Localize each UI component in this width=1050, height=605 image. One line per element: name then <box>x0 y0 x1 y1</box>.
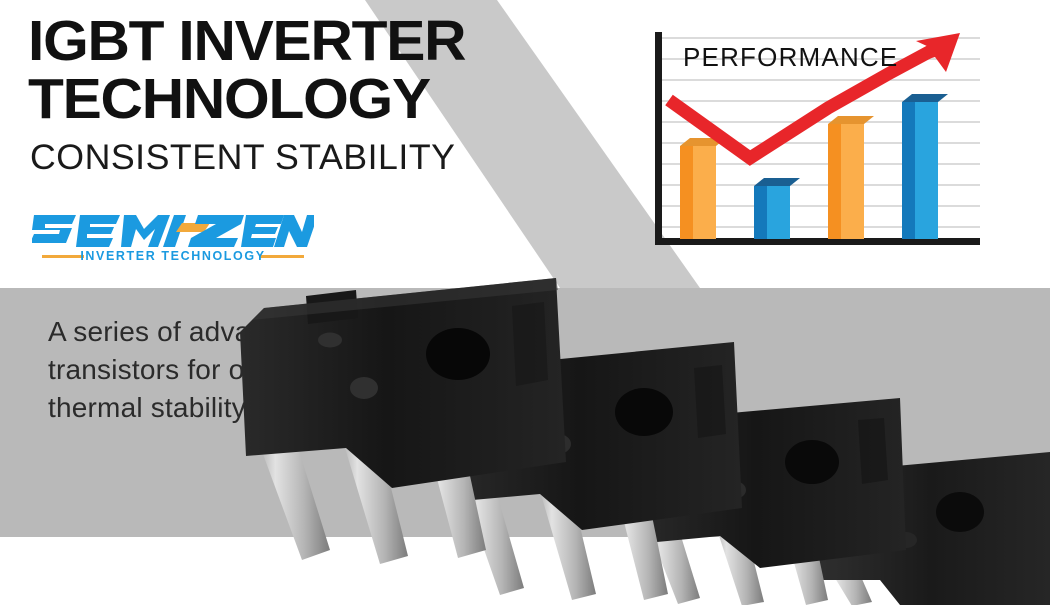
chart-bar-2 <box>754 178 800 239</box>
page-title-line1: IGBT INVERTER <box>28 14 522 70</box>
page-subtitle: CONSISTENT STABILITY <box>30 140 518 175</box>
headline-block: IGBT INVERTER TECHNOLOGY CONSISTENT STAB… <box>28 14 508 175</box>
chart-x-axis <box>655 238 980 245</box>
chart-bar-1 <box>680 138 726 239</box>
page-title-line2: TECHNOLOGY <box>28 72 522 128</box>
chart-bar-3 <box>828 116 874 239</box>
logo-word-zener <box>188 215 314 247</box>
chart-title: PERFORMANCE <box>683 42 898 72</box>
chart-y-axis <box>655 32 662 244</box>
chart-bar-4 <box>902 94 948 239</box>
logo-word-semi <box>32 215 186 247</box>
transistor-group <box>0 250 1050 605</box>
transistor-1 <box>240 278 566 564</box>
banner-canvas: IGBT INVERTER TECHNOLOGY CONSISTENT STAB… <box>0 0 1050 605</box>
performance-chart: PERFORMANCE <box>650 24 990 256</box>
